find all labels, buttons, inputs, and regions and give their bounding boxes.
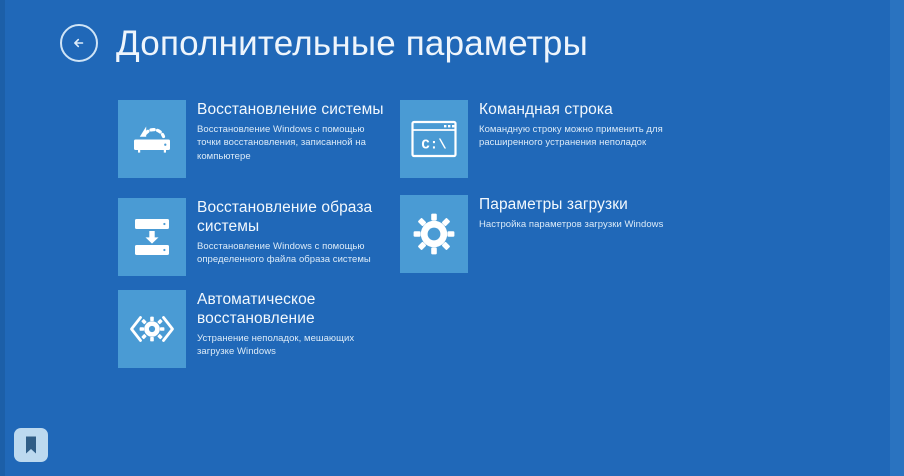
svg-text:C:\: C:\ bbox=[421, 138, 446, 154]
tile-text: Автоматическое восстановление Устранение… bbox=[197, 290, 388, 359]
tile-title: Восстановление системы bbox=[197, 101, 388, 120]
tile-title: Автоматическое восстановление bbox=[197, 291, 388, 329]
bookmark-button[interactable] bbox=[14, 428, 48, 462]
tile-description: Командную строку можно применить для рас… bbox=[479, 123, 700, 150]
recovery-screen: Дополнительные параметры bbox=[0, 0, 904, 476]
system-image-recovery-icon bbox=[118, 198, 186, 276]
system-restore-icon bbox=[118, 100, 186, 178]
page-header: Дополнительные параметры bbox=[60, 24, 588, 62]
tile-command-prompt[interactable]: C:\ Командная строка Командную строку мо… bbox=[400, 100, 700, 178]
tile-description: Восстановление Windows с помощью определ… bbox=[197, 240, 388, 267]
tile-text: Восстановление образа системы Восстановл… bbox=[197, 198, 388, 267]
tile-system-image-recovery[interactable]: Восстановление образа системы Восстановл… bbox=[118, 198, 388, 276]
tile-description: Настройка параметров загрузки Windows bbox=[479, 218, 663, 231]
tile-text: Восстановление системы Восстановление Wi… bbox=[197, 100, 388, 163]
tile-startup-settings[interactable]: Параметры загрузки Настройка параметров … bbox=[400, 195, 663, 273]
back-arrow-icon bbox=[69, 33, 89, 53]
startup-settings-icon bbox=[400, 195, 468, 273]
command-prompt-icon: C:\ bbox=[400, 100, 468, 178]
tile-description: Восстановление Windows с помощью точки в… bbox=[197, 123, 388, 163]
automatic-repair-icon bbox=[118, 290, 186, 368]
back-button[interactable] bbox=[60, 24, 98, 62]
bookmark-icon bbox=[23, 435, 39, 455]
page-title: Дополнительные параметры bbox=[116, 26, 588, 61]
tile-description: Устранение неполадок, мешающих загрузке … bbox=[197, 332, 388, 359]
tile-text: Командная строка Командную строку можно … bbox=[479, 100, 700, 150]
tile-text: Параметры загрузки Настройка параметров … bbox=[479, 195, 663, 231]
tile-title: Командная строка bbox=[479, 101, 700, 120]
tile-automatic-repair[interactable]: Автоматическое восстановление Устранение… bbox=[118, 290, 388, 368]
left-edge-shade bbox=[0, 0, 5, 476]
right-edge-shade bbox=[890, 0, 904, 476]
tile-title: Восстановление образа системы bbox=[197, 199, 388, 237]
tile-title: Параметры загрузки bbox=[479, 196, 663, 215]
tile-system-restore[interactable]: Восстановление системы Восстановление Wi… bbox=[118, 100, 388, 178]
